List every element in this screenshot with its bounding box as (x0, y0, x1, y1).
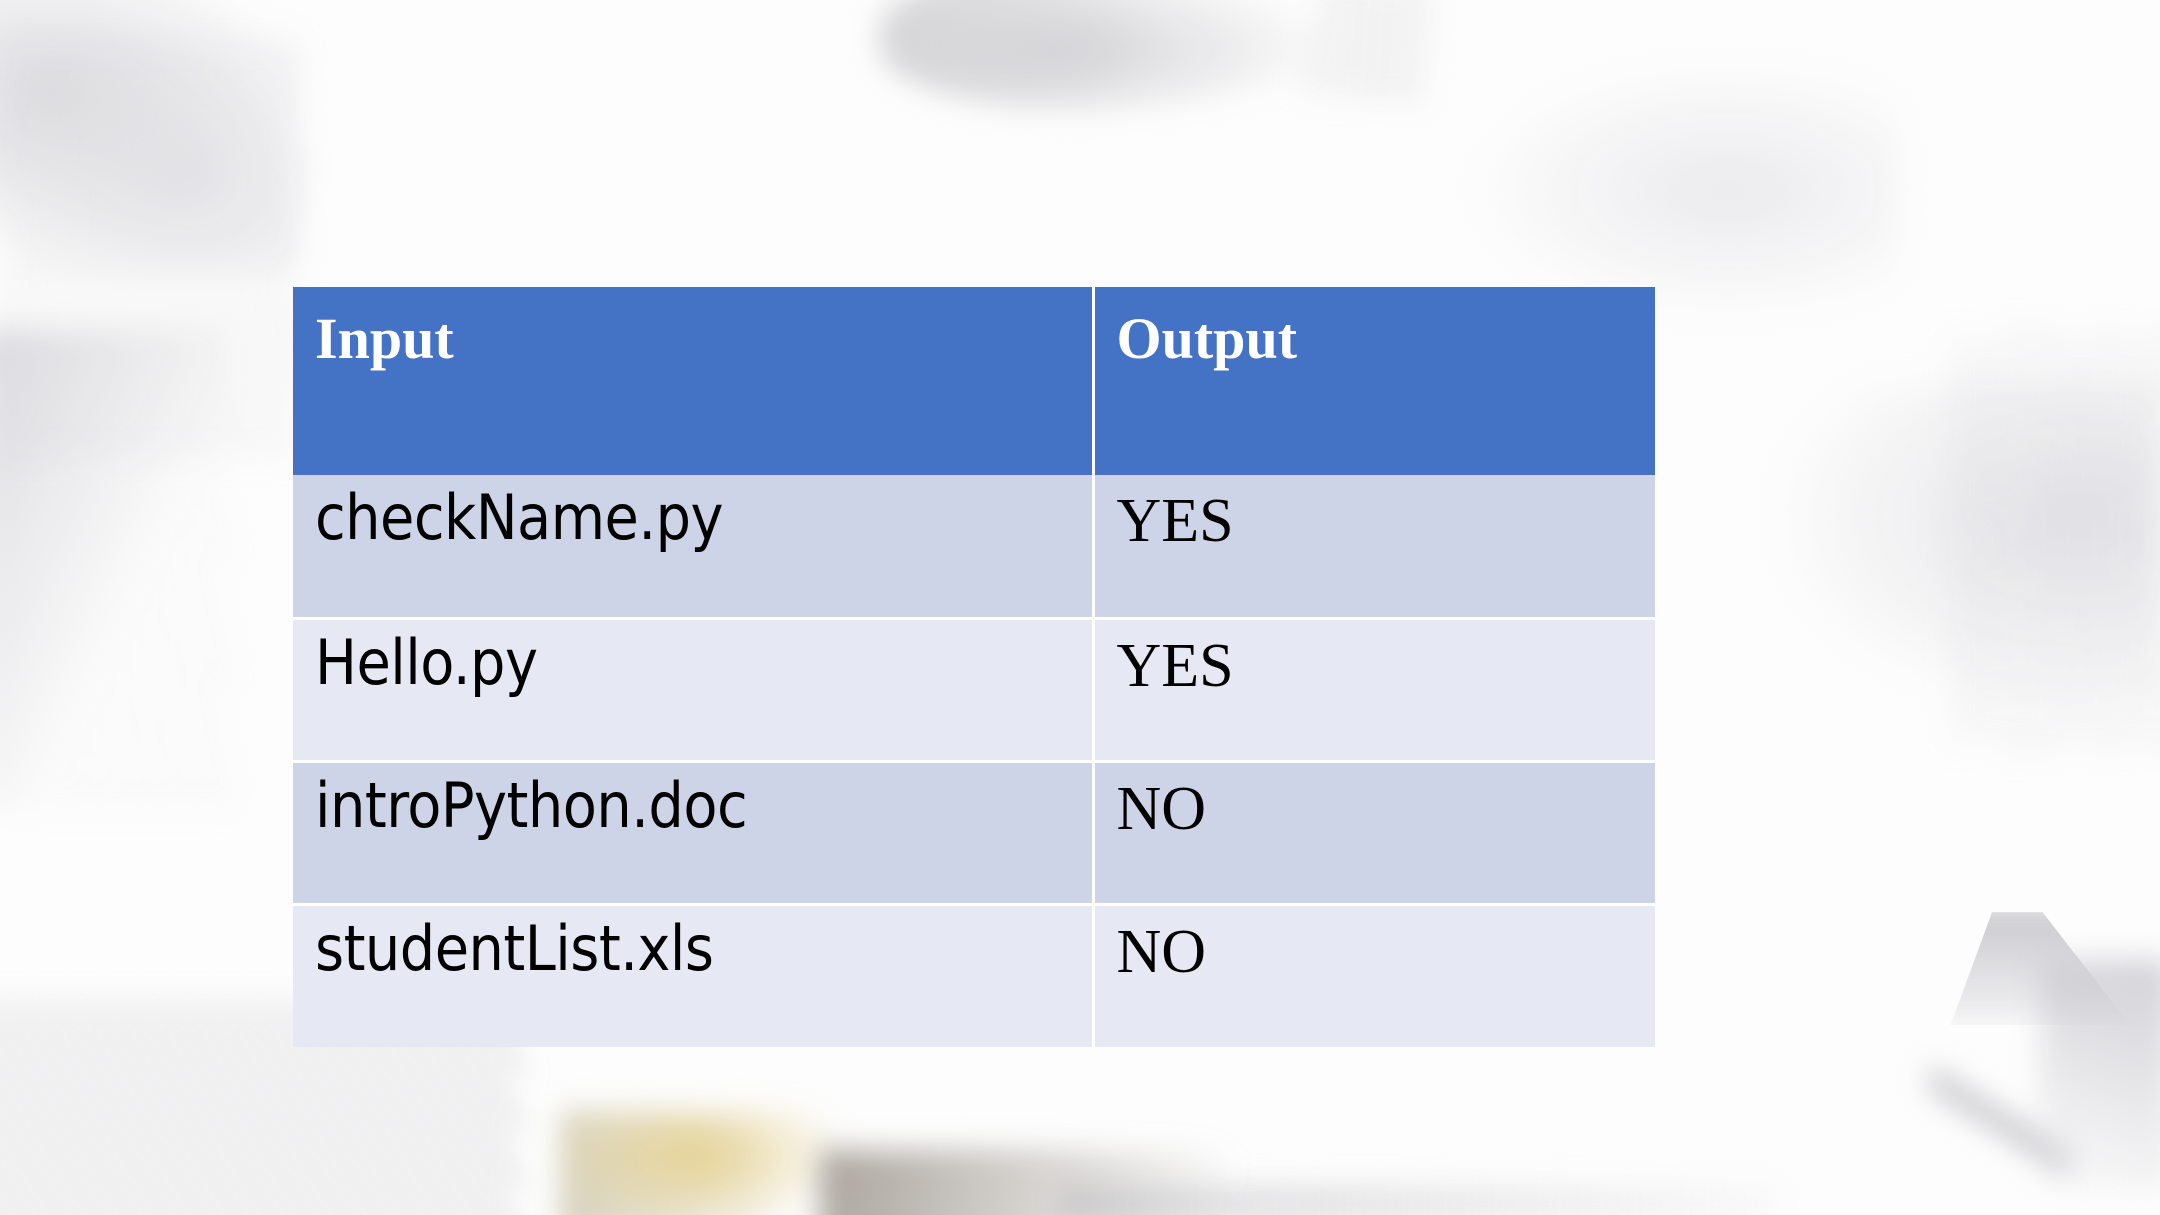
cell-output: NO (1093, 904, 1655, 1047)
background-shape-right-top-fade (1760, 380, 2160, 720)
background-shape-mid-right-fade (1470, 60, 1900, 320)
table-row: introPython.doc NO (293, 761, 1655, 904)
cell-input: studentList.xls (293, 904, 1093, 1047)
background-shape-lamp-shade (1900, 905, 2130, 1025)
cell-input: checkName.py (293, 475, 1093, 618)
cell-output: YES (1093, 618, 1655, 761)
column-header-input: Input (293, 287, 1093, 475)
table-row: Hello.py YES (293, 618, 1655, 761)
table-header: Input Output (293, 287, 1655, 475)
background-shape-left-top (0, 0, 300, 270)
cell-output: NO (1093, 761, 1655, 904)
background-shape-bottom-dark (820, 1150, 1340, 1215)
table-body: checkName.py YES Hello.py YES introPytho… (293, 475, 1655, 1047)
background-shape-left-mid (0, 330, 230, 810)
background-shape-top-smear (880, 0, 1340, 110)
input-output-table: Input Output checkName.py YES Hello.py Y… (293, 287, 1655, 1047)
background-shape-bottom-amber (560, 1110, 860, 1215)
cell-input: Hello.py (293, 618, 1093, 761)
column-header-output: Output (1093, 287, 1655, 475)
cell-input: introPython.doc (293, 761, 1093, 904)
cell-output: YES (1093, 475, 1655, 618)
table-row: studentList.xls NO (293, 904, 1655, 1047)
slide-canvas: Input Output checkName.py YES Hello.py Y… (0, 0, 2160, 1215)
background-shape-bottom-strip (1060, 1186, 1780, 1215)
background-shape-right-curves (1950, 330, 2160, 750)
background-shape-left-streaks (0, 40, 300, 460)
table-row: checkName.py YES (293, 475, 1655, 618)
table-header-row: Input Output (293, 287, 1655, 475)
background-shape-lamp-arm (1930, 1020, 2070, 1215)
table-container: Input Output checkName.py YES Hello.py Y… (293, 287, 1655, 1047)
background-shape-top-lines (1304, 0, 1436, 106)
background-shape-right-block (2040, 960, 2160, 1190)
